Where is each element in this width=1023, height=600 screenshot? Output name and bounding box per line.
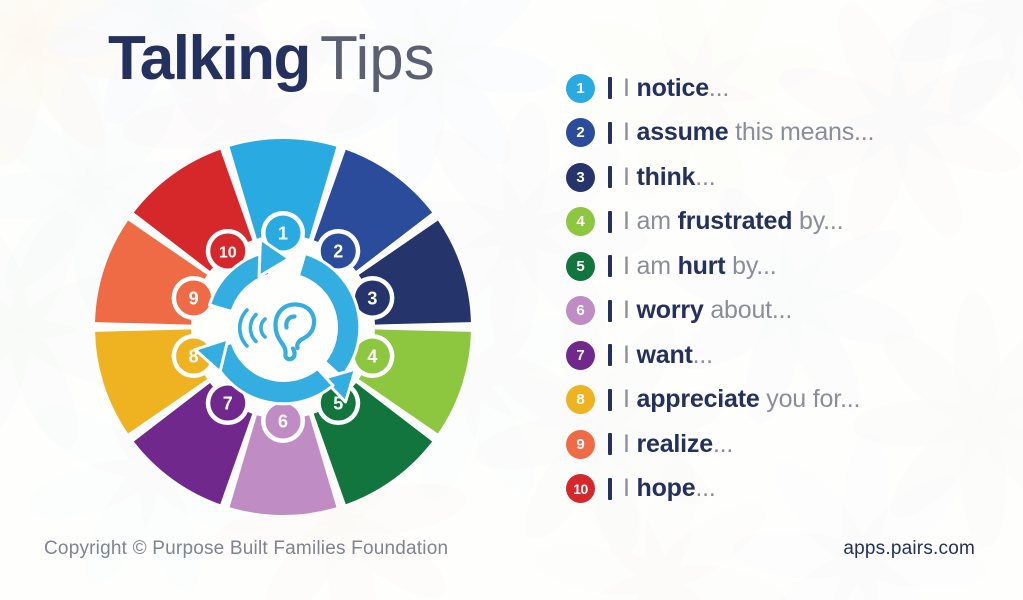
tip-suffix: by... bbox=[792, 207, 843, 235]
tip-number-badge: 3 bbox=[566, 163, 595, 192]
site-url[interactable]: apps.pairs.com bbox=[843, 538, 975, 560]
tip-keyword: appreciate bbox=[637, 385, 760, 413]
tip-suffix: by... bbox=[725, 252, 776, 280]
tip-keyword: assume bbox=[637, 118, 729, 146]
tip-text: I realize... bbox=[623, 430, 733, 459]
tip-prefix: I am bbox=[623, 207, 678, 235]
tip-row: 7I want... bbox=[566, 333, 996, 378]
wheel-badge-label-3: 3 bbox=[367, 288, 377, 308]
tip-suffix: ... bbox=[695, 474, 715, 502]
tip-text: I am frustrated by... bbox=[623, 207, 843, 236]
tip-text: I hope... bbox=[623, 474, 716, 503]
tip-row: 4I am frustrated by... bbox=[566, 200, 996, 245]
wheel-badge-label-1: 1 bbox=[278, 224, 288, 244]
tip-keyword: hope bbox=[637, 474, 696, 502]
tip-separator-bar bbox=[608, 433, 612, 455]
tip-row: 3I think... bbox=[566, 155, 996, 200]
tip-number-badge: 2 bbox=[566, 118, 595, 147]
tip-number-badge: 10 bbox=[566, 474, 595, 503]
tip-number-badge: 1 bbox=[566, 74, 595, 103]
tip-prefix: I bbox=[623, 118, 637, 146]
tip-number-badge: 6 bbox=[566, 296, 595, 325]
infographic-page: TalkingTips 12345678910 bbox=[0, 0, 1023, 600]
tip-prefix: I bbox=[623, 74, 637, 102]
tip-number-badge: 7 bbox=[566, 341, 595, 370]
title-light: Tips bbox=[320, 24, 435, 93]
wheel-badge-label-7: 7 bbox=[223, 394, 233, 414]
tip-keyword: realize bbox=[637, 430, 713, 458]
tip-row: 2I assume this means... bbox=[566, 111, 996, 156]
tip-separator-bar bbox=[608, 344, 612, 366]
tip-keyword: frustrated bbox=[678, 207, 793, 235]
tip-row: 9I realize... bbox=[566, 422, 996, 467]
wheel-badge-label-2: 2 bbox=[333, 241, 343, 261]
tip-number-badge: 5 bbox=[566, 252, 595, 281]
talking-tips-wheel: 12345678910 bbox=[88, 132, 478, 522]
tip-row: 5I am hurt by... bbox=[566, 244, 996, 289]
tip-suffix: about... bbox=[704, 296, 793, 324]
tip-separator-bar bbox=[608, 300, 612, 322]
tip-prefix: I bbox=[623, 341, 637, 369]
tip-text: I assume this means... bbox=[623, 118, 874, 147]
tip-suffix: ... bbox=[695, 163, 715, 191]
tip-number-badge: 4 bbox=[566, 207, 595, 236]
tip-text: I want... bbox=[623, 341, 713, 370]
tip-separator-bar bbox=[608, 166, 612, 188]
tip-suffix: ... bbox=[693, 341, 713, 369]
page-title: TalkingTips bbox=[108, 28, 435, 90]
tip-keyword: hurt bbox=[678, 252, 726, 280]
tip-row: 10I hope... bbox=[566, 467, 996, 512]
tip-prefix: I bbox=[623, 430, 637, 458]
tip-text: I think... bbox=[623, 163, 715, 192]
tip-row: 6I worry about... bbox=[566, 289, 996, 334]
tip-suffix: ... bbox=[709, 74, 729, 102]
tip-keyword: want bbox=[637, 341, 693, 369]
tip-text: I worry about... bbox=[623, 296, 792, 325]
tip-prefix: I bbox=[623, 385, 637, 413]
tip-row: 8I appreciate you for... bbox=[566, 378, 996, 423]
wheel-badge-label-4: 4 bbox=[367, 347, 377, 367]
tip-separator-bar bbox=[608, 255, 612, 277]
wheel-badge-label-6: 6 bbox=[278, 412, 288, 432]
tip-prefix: I bbox=[623, 163, 637, 191]
tips-list: 1I notice...2I assume this means...3I th… bbox=[566, 66, 996, 511]
tip-suffix: you for... bbox=[760, 385, 861, 413]
copyright-text: Copyright © Purpose Built Families Found… bbox=[44, 538, 448, 560]
tip-separator-bar bbox=[608, 122, 612, 144]
tip-keyword: worry bbox=[637, 296, 704, 324]
tip-prefix: I bbox=[623, 296, 637, 324]
tip-prefix: I am bbox=[623, 252, 678, 280]
tip-row: 1I notice... bbox=[566, 66, 996, 111]
tip-separator-bar bbox=[608, 77, 612, 99]
title-bold: Talking bbox=[108, 24, 310, 93]
wheel-badge-label-9: 9 bbox=[189, 288, 199, 308]
tip-suffix: ... bbox=[713, 430, 733, 458]
tip-separator-bar bbox=[608, 478, 612, 500]
tip-text: I appreciate you for... bbox=[623, 385, 860, 414]
tip-text: I notice... bbox=[623, 74, 729, 103]
tip-number-badge: 9 bbox=[566, 430, 595, 459]
tip-text: I am hurt by... bbox=[623, 252, 777, 281]
tip-number-badge: 8 bbox=[566, 385, 595, 414]
wheel-badge-label-10: 10 bbox=[219, 244, 237, 261]
tip-separator-bar bbox=[608, 389, 612, 411]
tip-keyword: think bbox=[637, 163, 696, 191]
tip-suffix: this means... bbox=[728, 118, 874, 146]
tip-keyword: notice bbox=[637, 74, 709, 102]
tip-prefix: I bbox=[623, 474, 637, 502]
tip-separator-bar bbox=[608, 211, 612, 233]
